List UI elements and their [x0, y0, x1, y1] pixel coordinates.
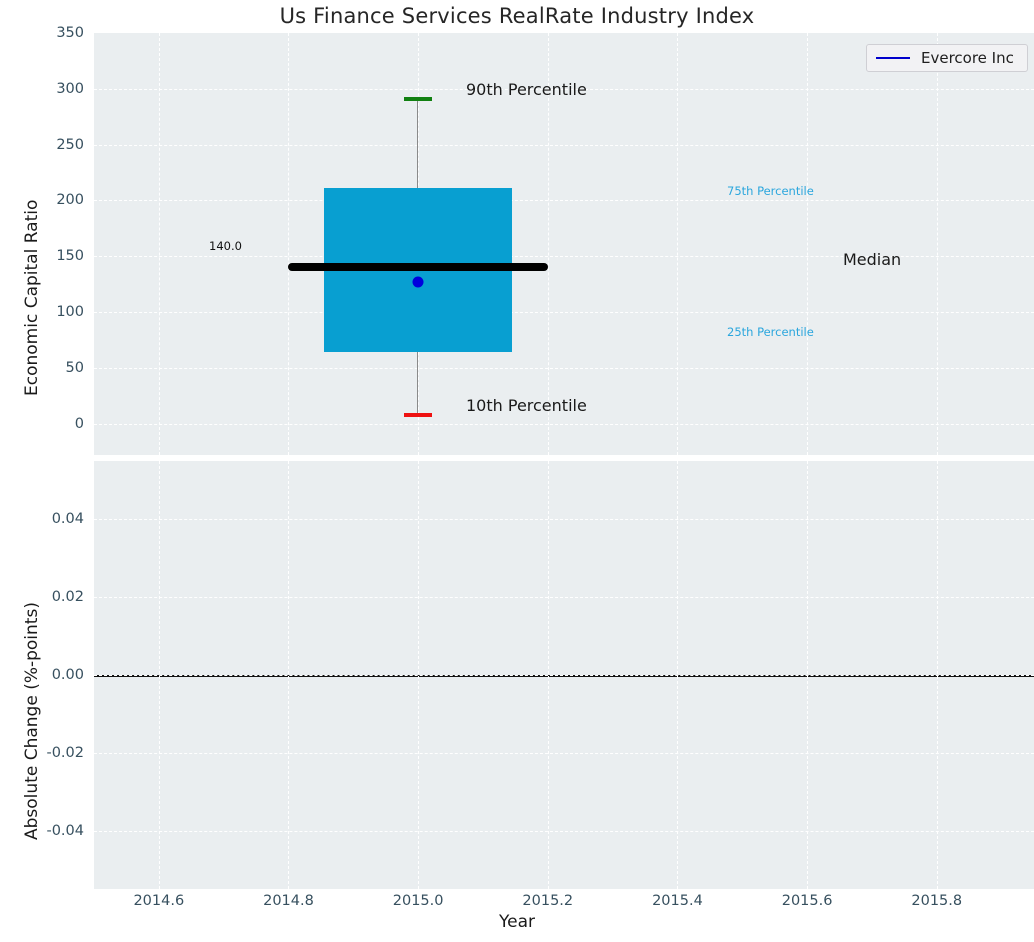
gridline-vertical [937, 33, 938, 455]
annotation-90th-percentile: 90th Percentile [466, 80, 587, 99]
gridline-vertical [159, 461, 160, 889]
gridline-horizontal [94, 597, 1034, 598]
whisker-lower [417, 352, 418, 412]
gridline-vertical [807, 33, 808, 455]
x-tick-label: 2014.8 [263, 893, 314, 909]
x-tick-label: 2015.2 [522, 893, 573, 909]
gridline-vertical [677, 33, 678, 455]
gridline-horizontal [94, 145, 1034, 146]
y-tick-label: 350 [10, 25, 94, 41]
y-tick-label: 250 [10, 137, 94, 153]
annotation-140-0: 140.0 [209, 239, 242, 253]
annotation-median: Median [843, 250, 901, 269]
gridline-horizontal [94, 200, 1034, 201]
whisker-upper [417, 97, 418, 189]
gridline-horizontal [94, 368, 1034, 369]
gridline-vertical [288, 33, 289, 455]
x-tick-label: 2014.6 [133, 893, 184, 909]
gridline-vertical [548, 461, 549, 889]
x-tick-label: 2015.6 [782, 893, 833, 909]
chart-title: Us Finance Services RealRate Industry In… [0, 4, 1034, 28]
gridline-vertical [288, 461, 289, 889]
y-axis-ticks-bottom: 0.040.020.00-0.02-0.04 [0, 461, 94, 889]
median-line [288, 263, 548, 271]
gridline-vertical [418, 461, 419, 889]
x-tick-label: 2015.4 [652, 893, 703, 909]
x-tick-label: 2015.0 [393, 893, 444, 909]
whisker-cap-p90 [404, 97, 432, 101]
legend-line-icon [876, 57, 910, 59]
legend[interactable]: Evercore Inc [866, 44, 1028, 72]
annotation-25th-percentile: 25th Percentile [727, 325, 814, 339]
annotation-75th-percentile: 75th Percentile [727, 184, 814, 198]
gridline-vertical [937, 461, 938, 889]
whisker-cap-p10 [404, 413, 432, 417]
gridline-horizontal [94, 675, 1034, 676]
y-axis-label-top: Economic Capital Ratio [22, 200, 42, 396]
gridline-horizontal [94, 519, 1034, 520]
y-tick-label: 0.04 [10, 511, 94, 527]
chart-figure: Us Finance Services RealRate Industry In… [0, 0, 1034, 942]
gridline-horizontal [94, 312, 1034, 313]
annotation-10th-percentile: 10th Percentile [466, 396, 587, 415]
x-tick-label: 2015.8 [911, 893, 962, 909]
y-axis-label-bottom: Absolute Change (%-points) [22, 602, 42, 840]
legend-label-evercore-inc: Evercore Inc [921, 49, 1014, 67]
gridline-horizontal [94, 424, 1034, 425]
gridline-horizontal [94, 753, 1034, 754]
y-axis-ticks-top: 050100150200250300350 [0, 33, 94, 455]
gridline-vertical [807, 461, 808, 889]
gridline-horizontal [94, 831, 1034, 832]
x-axis-label: Year [0, 912, 1034, 932]
y-tick-label: 300 [10, 81, 94, 97]
y-tick-label: 0 [10, 416, 94, 432]
series-marker-evercore-inc [413, 276, 424, 287]
gridline-vertical [677, 461, 678, 889]
gridline-vertical [159, 33, 160, 455]
plot-area-absolute-change [94, 461, 1034, 889]
